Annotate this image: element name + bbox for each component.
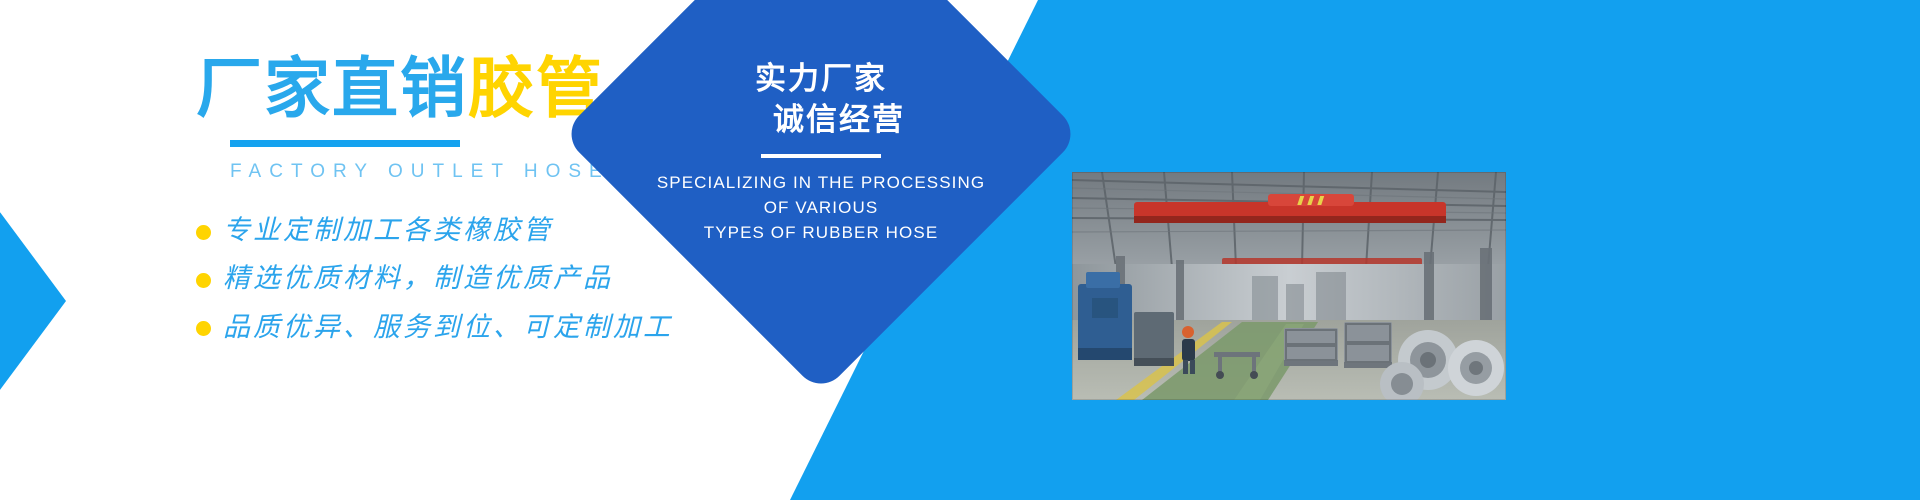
diamond-en-line-3: TYPES OF RUBBER HOSE [657,220,985,245]
diamond-chinese-heading: 实力厂家 诚信经营 [737,59,905,141]
title-underline [230,140,460,147]
left-chevron-accent [0,196,128,406]
bullet-dot-icon [196,273,211,288]
factory-photo [1072,172,1506,400]
diamond-cn-line-1: 实力厂家 [737,59,905,100]
bullet-dot-icon [196,321,211,336]
list-item-label: 专业定制加工各类橡胶管 [223,215,553,247]
list-item-label: 精选优质材料，制造优质产品 [223,263,613,295]
diamond-en-line-1: SPECIALIZING IN THE PROCESSING [657,170,985,195]
diamond-en-line-2: OF VARIOUS [657,195,985,220]
diamond-cn-line-2: 诚信经营 [737,100,905,141]
diamond-english-text: SPECIALIZING IN THE PROCESSING OF VARIOU… [657,170,985,245]
diamond-content: 实力厂家 诚信经营 SPECIALIZING IN THE PROCESSING… [637,0,1005,318]
bullet-dot-icon [196,225,211,240]
diamond-badge: 实力厂家 诚信经营 SPECIALIZING IN THE PROCESSING… [637,0,1005,318]
promotional-banner: 厂家直销胶管 FACTORY OUTLET HOSE 专业定制加工各类橡胶管 精… [0,0,1920,500]
diamond-divider [761,154,881,158]
list-item-label: 品质优异、服务到位、可定制加工 [223,312,673,344]
headline-primary: 厂家直销 [196,50,468,127]
